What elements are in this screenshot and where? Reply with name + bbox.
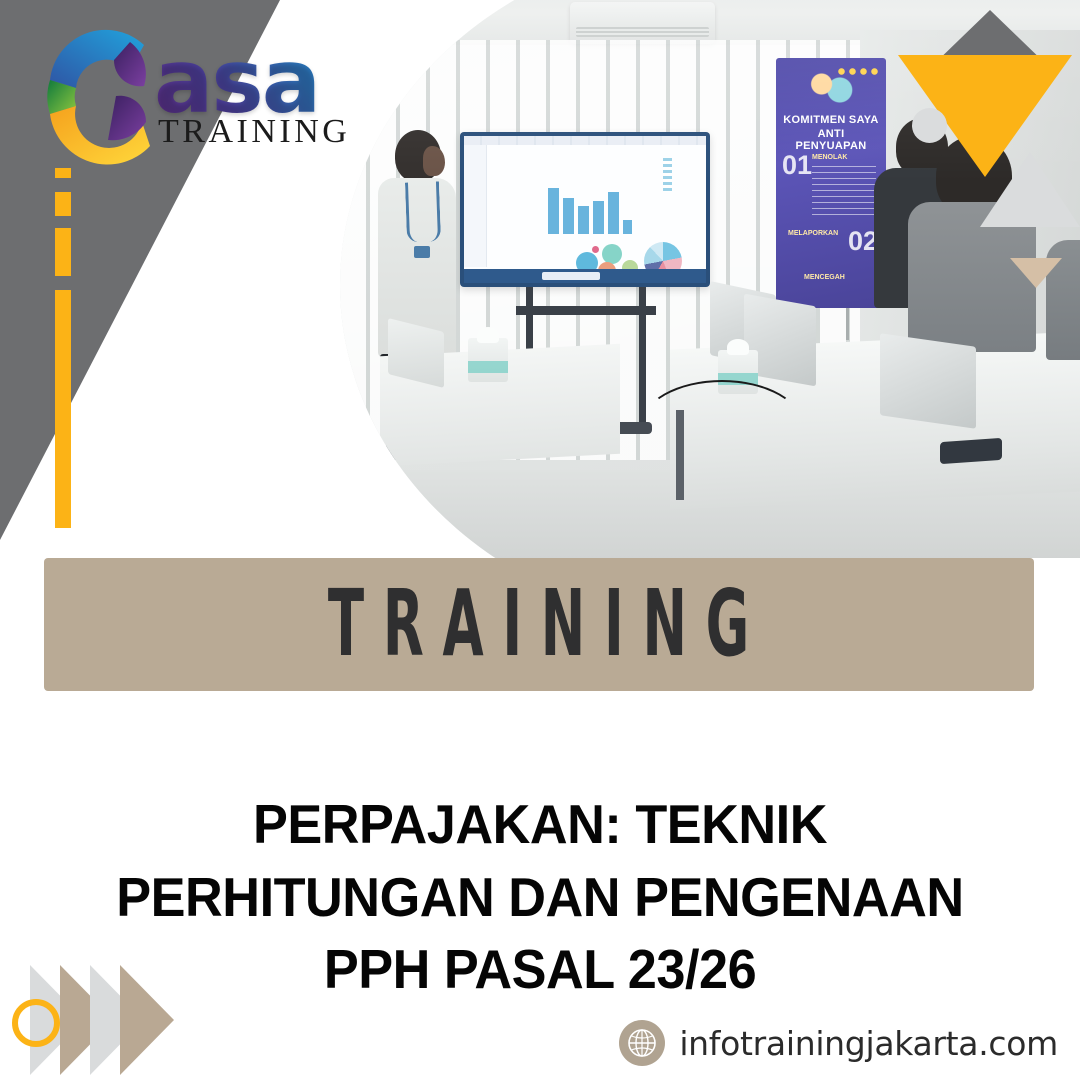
lightgray-triangle-icon xyxy=(980,152,1080,227)
logo-tagline: TRAINING xyxy=(158,113,350,151)
photo-presentation-screen xyxy=(460,132,710,287)
rollup-line1: KOMITMEN SAYA xyxy=(782,114,880,126)
rollup-line2: ANTI PENYUAPAN xyxy=(782,128,880,152)
website-url-text: infotrainingjakarta.com xyxy=(679,1024,1058,1063)
yellow-dash-2 xyxy=(55,192,71,216)
photo-laptop-3 xyxy=(880,333,976,428)
photo-screen-legend xyxy=(663,158,672,192)
website-footer[interactable]: infotrainingjakarta.com xyxy=(619,1020,1058,1066)
course-title-line-2: PERHITUNGAN DAN PENGENAAN xyxy=(75,861,1006,934)
photo-screen-bar-chart xyxy=(548,184,630,234)
yellow-dash-4 xyxy=(55,290,71,528)
gray-circle-icon xyxy=(912,108,947,143)
photo-screen-crossbar xyxy=(516,306,656,315)
yellow-dash-3 xyxy=(55,228,71,276)
poster-canvas: KOMITMEN SAYA ANTI PENYUAPAN 01 MENOLAK … xyxy=(0,0,1080,1080)
course-title-line-1: PERPAJAKAN: TEKNIK xyxy=(75,788,1006,861)
tan-triangle-icon xyxy=(1010,258,1062,288)
orange-ring-icon xyxy=(12,999,60,1047)
course-title: PERPAJAKAN: TEKNIK PERHITUNGAN DAN PENGE… xyxy=(50,788,1030,1006)
rollup-item1-label: MENOLAK xyxy=(812,154,847,161)
logo-wordmark: asa xyxy=(154,42,350,121)
rollup-item1-number: 01 xyxy=(782,150,812,181)
photo-cable xyxy=(640,380,804,474)
photo-rollup-banner: KOMITMEN SAYA ANTI PENYUAPAN 01 MENOLAK … xyxy=(776,58,886,308)
rollup-item2-label: MELAPORKAN xyxy=(788,230,838,237)
photo-air-conditioner xyxy=(570,2,715,44)
training-banner-label: TRAINING xyxy=(310,579,769,671)
photo-front-tissue-box xyxy=(468,338,508,382)
globe-icon xyxy=(619,1020,665,1066)
course-title-line-3: PPH PASAL 23/26 xyxy=(75,933,1006,1006)
training-banner: TRAINING xyxy=(44,558,1034,691)
rollup-item3-label: MENCEGAH xyxy=(804,274,845,281)
photo-phone xyxy=(940,438,1002,464)
